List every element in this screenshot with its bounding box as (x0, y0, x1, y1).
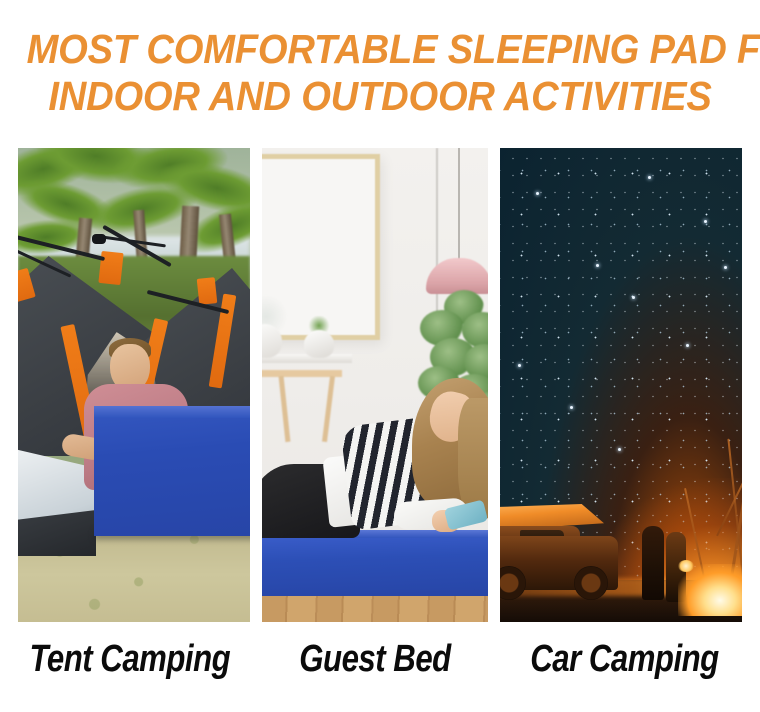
page-title-line-1: MOST COMFORTABLE SLEEPING PAD FOR (27, 26, 734, 73)
console-table-leg (322, 376, 335, 442)
bright-star (632, 296, 635, 299)
bright-star (724, 266, 727, 269)
panel-tent-camping (18, 148, 250, 622)
vehicle-wheel (574, 566, 608, 600)
bright-star (686, 344, 689, 347)
offroad-vehicle (500, 508, 624, 600)
bright-star (618, 448, 621, 451)
pendant-lamp-cord (458, 148, 460, 260)
bright-star (596, 264, 599, 267)
sleeping-pad-top-edge (94, 406, 250, 418)
caption-car-camping: Car Camping (525, 628, 723, 690)
page-title-line-2: INDOOR AND OUTDOOR ACTIVITIES (27, 73, 734, 120)
campfire-flame (678, 564, 742, 616)
caption-tent-camping: Tent Camping (35, 628, 225, 690)
panel-strip (18, 148, 742, 622)
sleeping-pad-blue (262, 534, 488, 596)
page-title: MOST COMFORTABLE SLEEPING PAD FOR INDOOR… (27, 26, 734, 120)
sleeping-pad-blue (94, 408, 250, 536)
bright-star (536, 192, 539, 195)
bright-star (648, 176, 651, 179)
panel-car-camping (500, 148, 742, 622)
bright-star (570, 406, 573, 409)
tent-pole-hub (92, 234, 106, 244)
caption-guest-bed: Guest Bed (282, 628, 467, 690)
bright-star (518, 364, 521, 367)
panel-guest-bed (262, 148, 488, 622)
white-planter (304, 330, 334, 358)
camper-silhouette-left (642, 526, 664, 600)
tent-seam-tape (197, 277, 218, 305)
bright-star (704, 220, 707, 223)
caption-row: Tent Camping Guest Bed Car Camping (18, 628, 742, 690)
console-table-leg (279, 376, 291, 442)
console-table (262, 354, 352, 450)
